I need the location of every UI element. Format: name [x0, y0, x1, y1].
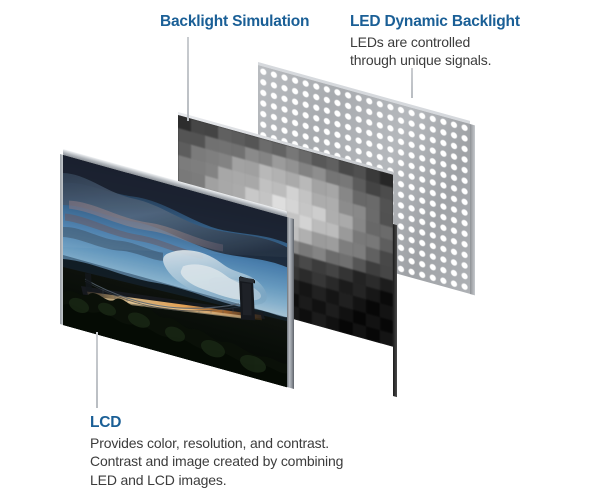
callout-lcd-body: Provides color, resolution, and contrast…: [90, 434, 343, 489]
simulation-pixel: [326, 315, 339, 332]
callout-lcd-body-line-1: Provides color, resolution, and contrast…: [90, 434, 343, 452]
callout-led-body-line-1: LEDs are controlled: [350, 33, 520, 51]
callout-led-dynamic-backlight: LED Dynamic Backlight LEDs are controlle…: [350, 13, 520, 70]
simulation-pixel: [353, 322, 366, 339]
callout-lcd-title: LCD: [90, 414, 343, 432]
simulation-panel-side-edge: [393, 224, 397, 397]
callout-led-dynamic-backlight-title: LED Dynamic Backlight: [350, 13, 520, 31]
callout-lcd: LCD Provides color, resolution, and cont…: [90, 414, 343, 489]
leader-line-lcd: [96, 332, 98, 408]
diagram-canvas: Backlight Simulation LED Dynamic Backlig…: [0, 0, 600, 500]
callout-led-dynamic-backlight-body: LEDs are controlled through unique signa…: [350, 33, 520, 70]
callout-lcd-body-line-3: LED and LCD images.: [90, 471, 343, 489]
callout-lcd-body-line-2: Contrast and image created by combining: [90, 452, 343, 470]
callout-backlight-simulation: Backlight Simulation: [160, 13, 309, 31]
callout-led-body-line-2: through unique signals.: [350, 51, 520, 69]
simulation-pixel: [380, 330, 393, 347]
simulation-pixel: [339, 319, 352, 336]
leader-line-led-dynamic-backlight: [411, 68, 413, 98]
led-panel-side-edge: [470, 124, 475, 295]
simulation-pixel: [299, 307, 312, 324]
simulation-pixel: [312, 311, 325, 328]
simulation-pixel: [366, 326, 379, 343]
lcd-panel-side-edge: [287, 217, 294, 389]
callout-backlight-simulation-title: Backlight Simulation: [160, 13, 309, 31]
leader-line-backlight-simulation: [187, 37, 189, 121]
